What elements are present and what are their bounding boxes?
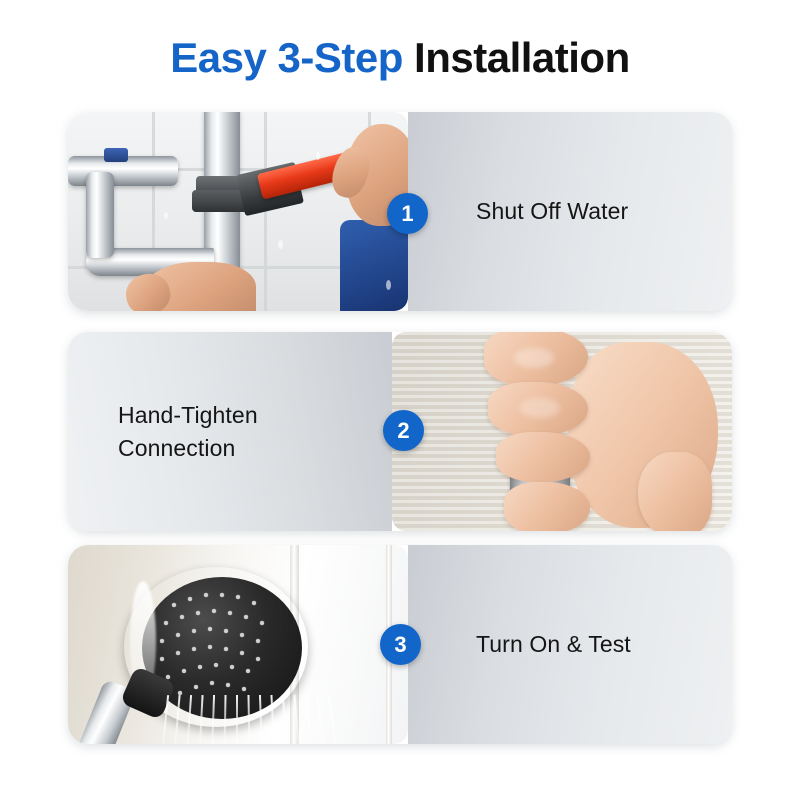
step-badge-3: 3	[380, 624, 421, 665]
step-badge-1-number: 1	[401, 201, 413, 227]
water-droplet	[316, 152, 320, 160]
thumb	[638, 452, 712, 531]
page-title-plain: Installation	[403, 34, 630, 81]
water-droplet	[386, 280, 391, 290]
step-1-label: Shut Off Water	[476, 195, 628, 228]
step-badge-2: 2	[383, 410, 424, 451]
step-3-text-panel: Turn On & Test	[408, 545, 732, 744]
page-title: Easy 3-Step Installation	[0, 34, 800, 82]
step-badge-1: 1	[387, 193, 428, 234]
valve-knob	[104, 148, 128, 162]
step-3-label: Turn On & Test	[476, 628, 631, 661]
step-2-image	[392, 332, 732, 531]
step-2-label: Hand-Tighten Connection	[118, 399, 258, 464]
step-1-image	[68, 112, 408, 311]
step-badge-2-number: 2	[397, 418, 409, 444]
step-2-label-line1: Hand-Tighten	[118, 402, 258, 428]
installation-steps-infographic: Easy 3-Step Installation	[0, 0, 800, 800]
step-3-image	[68, 545, 408, 744]
step-badge-3-number: 3	[394, 632, 406, 658]
step-1-text-panel: Shut Off Water	[408, 112, 732, 311]
step-2-text-panel: Hand-Tighten Connection	[68, 332, 392, 531]
little-finger	[504, 482, 590, 531]
pipe-riser	[86, 172, 114, 258]
water-droplet	[164, 212, 168, 219]
knuckle-highlight	[520, 398, 560, 418]
step-2-label-line2: Connection	[118, 435, 235, 461]
water-spray	[158, 695, 358, 744]
water-droplet	[278, 240, 283, 249]
ring-finger	[496, 432, 590, 482]
page-title-accent: Easy 3-Step	[170, 34, 403, 81]
knuckle-highlight	[514, 348, 554, 368]
worker-sleeve	[340, 220, 408, 311]
